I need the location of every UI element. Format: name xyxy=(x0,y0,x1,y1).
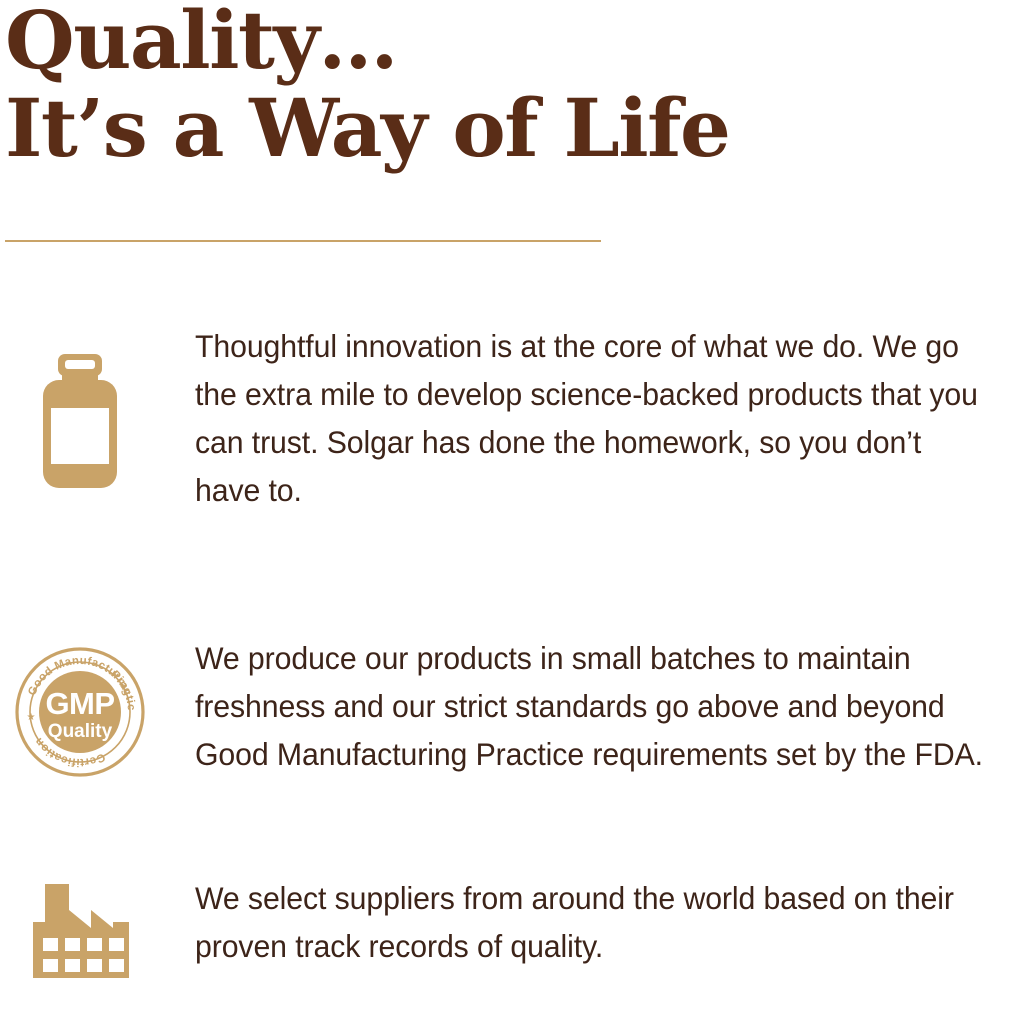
feature-text-suppliers: We select suppliers from around the worl… xyxy=(195,874,991,970)
feature-item-gmp: Good Manufacturing Practice Certificatio… xyxy=(0,634,1024,784)
feature-item-suppliers: We select suppliers from around the worl… xyxy=(0,874,1024,1024)
page-title-line-1: Quality… xyxy=(5,0,1005,88)
feature-icon-slot xyxy=(0,874,195,987)
gmp-quality-seal-icon: Good Manufacturing Practice Certificatio… xyxy=(14,646,146,778)
gmp-center-line-1: GMP xyxy=(45,686,114,721)
gmp-center-line-2: Quality xyxy=(48,721,113,742)
page-title: Quality… It’s a Way of Life xyxy=(5,0,1005,176)
page-title-line-2: It’s a Way of Life xyxy=(5,80,1005,176)
gmp-star-glyph: ★ xyxy=(27,712,36,723)
feature-text-innovation: Thoughtful innovation is at the core of … xyxy=(195,322,991,514)
feature-icon-slot: Good Manufacturing Practice Certificatio… xyxy=(0,634,195,778)
feature-text-gmp: We produce our products in small batches… xyxy=(195,634,991,778)
feature-icon-slot xyxy=(0,322,195,497)
factory-icon xyxy=(29,882,133,987)
title-divider xyxy=(5,240,601,242)
feature-list: Thoughtful innovation is at the core of … xyxy=(0,322,1024,1024)
feature-item-innovation: Thoughtful innovation is at the core of … xyxy=(0,322,1024,514)
quality-page: Quality… It’s a Way of Life xyxy=(0,0,1024,1001)
supplement-bottle-icon xyxy=(32,352,128,497)
